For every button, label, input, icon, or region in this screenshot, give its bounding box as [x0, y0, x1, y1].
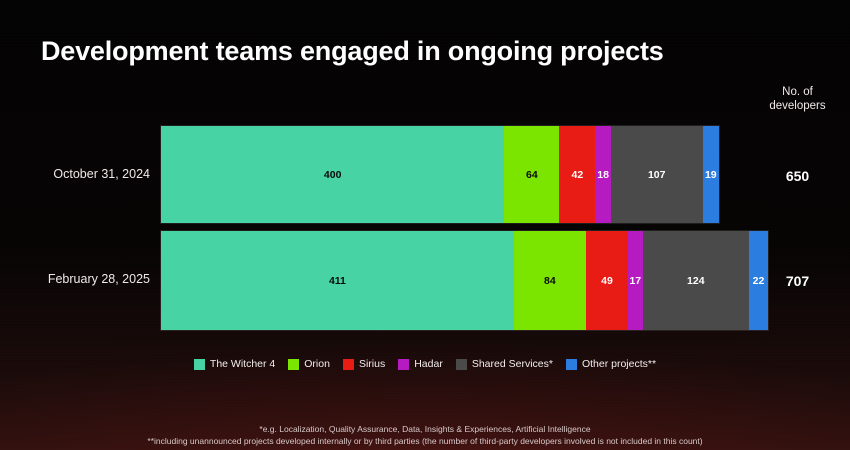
row-label: October 31, 2024: [0, 167, 150, 181]
legend-item[interactable]: Orion: [288, 358, 330, 370]
legend-item[interactable]: Hadar: [398, 358, 443, 370]
bar-segment-value: 19: [705, 169, 717, 181]
footnote: **including unannounced projects develop…: [0, 436, 850, 448]
bar-segment[interactable]: 124: [643, 231, 749, 330]
bar-segment[interactable]: 19: [703, 126, 719, 223]
footnote: *e.g. Localization, Quality Assurance, D…: [0, 424, 850, 436]
bar-segment-value: 411: [329, 275, 346, 287]
bar-segment-value: 107: [648, 169, 666, 181]
bar-segment-value: 84: [544, 275, 556, 287]
bar-segment[interactable]: 17: [628, 231, 643, 330]
legend-label: Other projects**: [582, 358, 656, 370]
bar-segment-value: 17: [629, 275, 641, 287]
bar-segment-value: 124: [687, 275, 705, 287]
row-label: February 28, 2025: [0, 272, 150, 286]
stacked-bar-chart: October 31, 202440064421810719650Februar…: [0, 0, 850, 450]
bar-segment[interactable]: 411: [161, 231, 514, 330]
legend-swatch-icon: [456, 359, 467, 370]
bar-row: 40064421810719: [161, 126, 719, 223]
row-total: 707: [750, 273, 845, 289]
bar-row: 41184491712422: [161, 231, 768, 330]
bar-segment-value: 400: [324, 169, 342, 181]
legend-label: The Witcher 4: [210, 358, 275, 370]
bar-segment[interactable]: 107: [611, 126, 703, 223]
legend-label: Hadar: [414, 358, 443, 370]
bar-segment[interactable]: 42: [559, 126, 595, 223]
row-total: 650: [750, 168, 845, 184]
legend-item[interactable]: The Witcher 4: [194, 358, 275, 370]
legend-item[interactable]: Sirius: [343, 358, 385, 370]
bar-segment[interactable]: 84: [514, 231, 586, 330]
legend-item[interactable]: Other projects**: [566, 358, 656, 370]
legend-label: Shared Services*: [472, 358, 553, 370]
legend-item[interactable]: Shared Services*: [456, 358, 553, 370]
bar-segment-value: 49: [601, 275, 613, 287]
legend-swatch-icon: [343, 359, 354, 370]
bar-segment[interactable]: 49: [586, 231, 628, 330]
bar-segment[interactable]: 400: [161, 126, 504, 223]
legend-label: Sirius: [359, 358, 385, 370]
legend-swatch-icon: [398, 359, 409, 370]
legend-swatch-icon: [288, 359, 299, 370]
legend-label: Orion: [304, 358, 330, 370]
bar-segment-value: 18: [597, 169, 609, 181]
bar-segment-value: 42: [572, 169, 584, 181]
bar-segment-value: 64: [526, 169, 538, 181]
bar-segment[interactable]: 64: [504, 126, 559, 223]
bar-segment[interactable]: 18: [595, 126, 610, 223]
chart-legend: The Witcher 4OrionSiriusHadarShared Serv…: [0, 358, 850, 370]
slide-root: Development teams engaged in ongoing pro…: [0, 0, 850, 450]
footnotes: *e.g. Localization, Quality Assurance, D…: [0, 424, 850, 447]
legend-swatch-icon: [194, 359, 205, 370]
legend-swatch-icon: [566, 359, 577, 370]
